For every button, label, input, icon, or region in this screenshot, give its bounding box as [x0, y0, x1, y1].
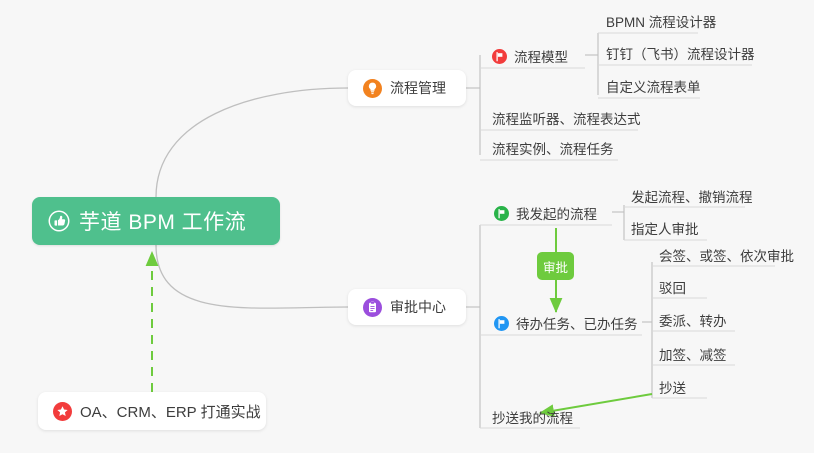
topic-bpmn-designer[interactable]: BPMN 流程设计器	[604, 8, 722, 34]
mindmap-canvas: 芋道 BPM 工作流 流程管理 审批中心	[0, 0, 814, 453]
topic-label: 抄送我的流程	[492, 407, 573, 427]
clipboard-icon	[363, 298, 382, 317]
topic-carbon-copy[interactable]: 抄送	[657, 374, 692, 400]
topic-process-model[interactable]: 流程模型	[490, 43, 574, 69]
flag-icon	[494, 206, 509, 221]
topic-delegate-transfer[interactable]: 委派、转办	[657, 307, 733, 333]
topic-process-instance-task[interactable]: 流程实例、流程任务	[490, 135, 620, 161]
topic-label: 加签、减签	[659, 344, 727, 364]
topic-label: 钉钉（飞书）流程设计器	[606, 43, 755, 63]
topic-label: 会签、或签、依次审批	[659, 245, 794, 265]
integration-note-node[interactable]: OA、CRM、ERP 打通实战	[38, 392, 266, 430]
branch-node-approval-center[interactable]: 审批中心	[348, 289, 466, 325]
flag-icon	[494, 316, 509, 331]
star-icon	[53, 402, 72, 421]
approval-annotation-label: 审批	[543, 257, 568, 276]
topic-assigned-approval[interactable]: 指定人审批	[629, 215, 705, 241]
topic-label: 指定人审批	[631, 218, 699, 238]
branch-node-process-management[interactable]: 流程管理	[348, 70, 466, 106]
topic-label: 自定义流程表单	[606, 76, 701, 96]
root-label: 芋道 BPM 工作流	[79, 206, 246, 236]
flag-icon	[492, 49, 507, 64]
topic-todo-done-tasks[interactable]: 待办任务、已办任务	[492, 310, 644, 336]
topic-dingtalk-feishu-designer[interactable]: 钉钉（飞书）流程设计器	[604, 40, 761, 66]
topic-custom-process-form[interactable]: 自定义流程表单	[604, 73, 707, 99]
topic-countersign-or-sequential[interactable]: 会签、或签、依次审批	[657, 242, 800, 268]
topic-start-cancel-process[interactable]: 发起流程、撤销流程	[629, 183, 759, 209]
topic-label: 驳回	[659, 277, 686, 297]
branch-label: 流程管理	[390, 78, 446, 98]
integration-note-label: OA、CRM、ERP 打通实战	[80, 401, 261, 422]
topic-label: 流程实例、流程任务	[492, 138, 614, 158]
approval-annotation-pill[interactable]: 审批	[537, 252, 574, 280]
topic-label: 流程模型	[514, 46, 568, 66]
topic-label: 待办任务、已办任务	[516, 313, 638, 333]
root-node[interactable]: 芋道 BPM 工作流	[32, 197, 280, 245]
topic-label: 委派、转办	[659, 310, 727, 330]
topic-label: 流程监听器、流程表达式	[492, 108, 641, 128]
thumbs-up-icon	[48, 210, 70, 232]
topic-cc-to-me-process[interactable]: 抄送我的流程	[490, 404, 579, 430]
topic-label: 我发起的流程	[516, 203, 597, 223]
topic-add-remove-sign[interactable]: 加签、减签	[657, 341, 733, 367]
topic-label: 发起流程、撤销流程	[631, 186, 753, 206]
topic-reject[interactable]: 驳回	[657, 274, 692, 300]
topic-label: 抄送	[659, 377, 686, 397]
branch-label: 审批中心	[390, 297, 446, 317]
topic-my-initiated-process[interactable]: 我发起的流程	[492, 200, 603, 226]
lightbulb-icon	[363, 79, 382, 98]
topic-label: BPMN 流程设计器	[606, 11, 716, 31]
topic-process-listener-expression[interactable]: 流程监听器、流程表达式	[490, 105, 647, 131]
